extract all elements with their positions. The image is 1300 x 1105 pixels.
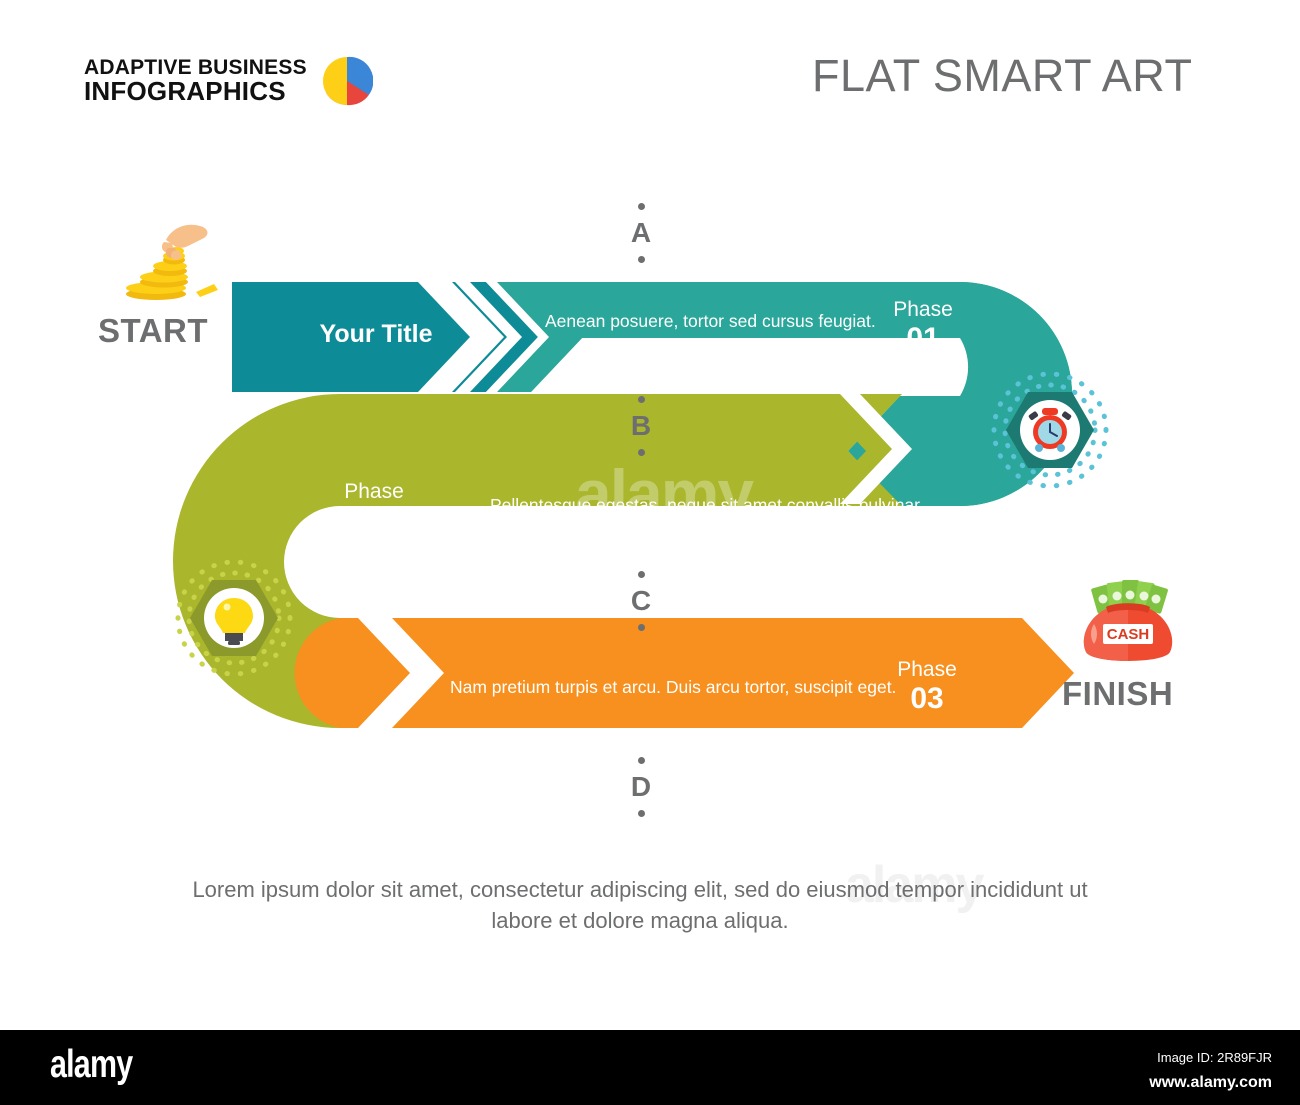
step-3-phase-number: 03 (880, 682, 974, 716)
start-label: START (98, 312, 208, 350)
step-3-text: Nam pretium turpis et arcu. Duis arcu to… (450, 676, 810, 700)
marker-b-dot-top (638, 396, 645, 403)
hand-coins-icon (126, 225, 218, 300)
marker-d-label: D (621, 771, 661, 803)
marker-a-dot-bottom (638, 256, 645, 263)
finish-label: FINISH (1062, 675, 1173, 713)
infographic-canvas: ADAPTIVE BUSINESS INFOGRAPHICS FLAT SMAR… (0, 0, 1300, 1030)
step-1-phase: Phase 01 (876, 299, 970, 355)
marker-b-label: B (621, 410, 661, 442)
marker-c-label: C (621, 585, 661, 617)
step-1-phase-number: 01 (876, 322, 970, 356)
marker-a-label: A (621, 217, 661, 249)
step-3-phase: Phase 03 (880, 659, 974, 715)
marker-c-dot-bottom (638, 624, 645, 631)
svg-text:CASH: CASH (1107, 626, 1150, 643)
footer-url[interactable]: www.alamy.com (1149, 1071, 1272, 1095)
step-2-phase-word: Phase (327, 481, 421, 504)
marker-c: C (621, 571, 661, 631)
footer-image-id: Image ID: 2R89FJR (1149, 1046, 1272, 1071)
step-1-text: Aenean posuere, tortor sed cursus feugia… (545, 310, 875, 334)
caption-text: Lorem ipsum dolor sit amet, consectetur … (190, 874, 1090, 936)
step-2-phase-number: 02 (327, 504, 421, 538)
marker-a: A (621, 203, 661, 263)
marker-a-dot-top (638, 203, 645, 210)
marker-d-dot-bottom (638, 810, 645, 817)
marker-b-dot-bottom (638, 449, 645, 456)
marker-d: D (621, 757, 661, 817)
alamy-logo: alamy (50, 1043, 132, 1087)
step-3-phase-word: Phase (880, 659, 974, 682)
footer-meta: Image ID: 2R89FJR www.alamy.com (1149, 1046, 1272, 1095)
marker-c-dot-top (638, 571, 645, 578)
marker-b: B (621, 396, 661, 456)
step-2-phase: Phase 02 (327, 481, 421, 537)
marker-d-dot-top (638, 757, 645, 764)
your-title-label: Your Title (296, 320, 456, 349)
step-2-text: Pellentesque egestas, neque sit amet con… (490, 494, 820, 518)
alamy-footer-bar: alamy Image ID: 2R89FJR www.alamy.com (0, 1030, 1300, 1105)
step-1-phase-word: Phase (876, 299, 970, 322)
hand (162, 225, 208, 260)
cash-bag-icon: CASH (1084, 580, 1172, 661)
